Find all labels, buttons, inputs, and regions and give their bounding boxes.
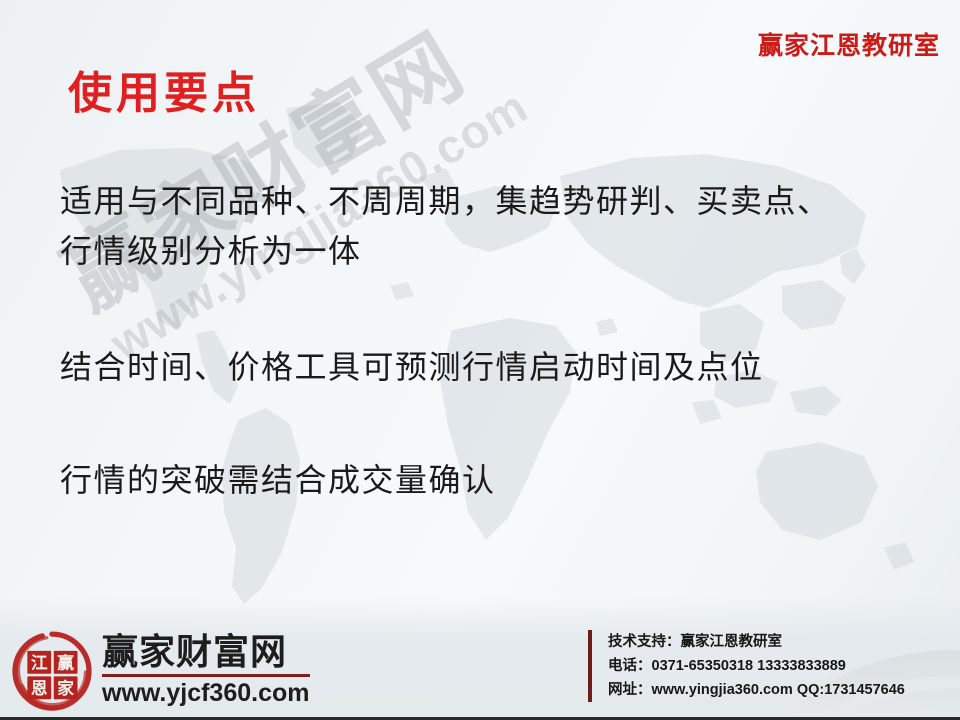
logo-name: 赢家财富网 <box>102 633 310 671</box>
svg-text:家: 家 <box>57 678 74 698</box>
svg-text:江: 江 <box>31 653 48 672</box>
logo-divider <box>102 674 310 677</box>
site-logo[interactable]: 江 赢 恩 家 赢家财富网 www.yjcf360.com <box>8 628 310 716</box>
page-title: 使用要点 <box>68 57 260 121</box>
contact-phone: 电话：0371-65350318 13333833889 <box>608 654 905 678</box>
seal-stamp-icon: 江 赢 恩 家 <box>8 628 96 716</box>
svg-text:赢: 赢 <box>57 652 74 672</box>
body-paragraph-2: 结合时间、价格工具可预测行情启动时间及点位 <box>60 342 940 392</box>
body-paragraph-1: 适用与不同品种、不周周期，集趋势研判、买卖点、 行情级别分析为一体 <box>60 176 940 276</box>
contact-web[interactable]: 网址：www.yingjia360.com QQ:1731457646 <box>608 678 905 702</box>
body-paragraph-3: 行情的突破需结合成交量确认 <box>60 455 940 505</box>
contact-block: 技术支持：赢家江恩教研室 电话：0371-65350318 1333383388… <box>588 630 905 702</box>
header-brand-label: 赢家江恩教研室 <box>758 26 940 62</box>
slide-canvas: 赢家财富网 www.yingjia360.com 赢家江恩教研室 使用要点 适用… <box>0 0 960 720</box>
svg-text:恩: 恩 <box>31 679 48 698</box>
logo-url: www.yjcf360.com <box>102 680 310 706</box>
body-content: 适用与不同品种、不周周期，集趋势研判、买卖点、 行情级别分析为一体 结合时间、价… <box>60 176 940 505</box>
contact-support: 技术支持：赢家江恩教研室 <box>608 630 905 654</box>
logo-text-block: 赢家财富网 www.yjcf360.com <box>102 633 310 710</box>
